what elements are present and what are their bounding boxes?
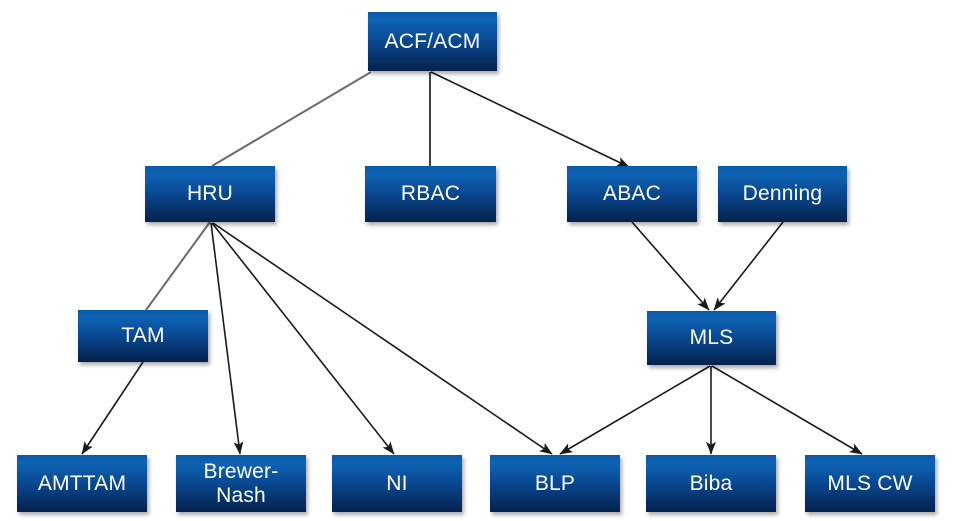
node-label-hru: HRU <box>145 182 275 206</box>
connector-layer <box>0 0 955 521</box>
node-label-ni: NI <box>332 472 462 496</box>
node-label-rbac: RBAC <box>365 182 496 206</box>
node-brewer_nash[interactable]: Brewer- Nash <box>176 455 306 512</box>
node-label-mls: MLS <box>647 326 776 350</box>
node-label-mls_cw: MLS CW <box>805 472 935 496</box>
node-abac[interactable]: ABAC <box>567 166 697 222</box>
edge-mls-to-blp <box>560 366 710 454</box>
node-hru[interactable]: HRU <box>145 166 275 222</box>
node-mls_cw[interactable]: MLS CW <box>805 455 935 512</box>
edge-hru-to-brewer_nash <box>211 223 240 454</box>
node-label-brewer_nash: Brewer- Nash <box>176 460 306 507</box>
node-label-denning: Denning <box>718 182 847 206</box>
edge-hru-to-blp <box>213 223 552 454</box>
edge-tam-to-amttam <box>82 362 143 454</box>
edge-hru-to-tam <box>146 222 210 310</box>
node-label-amttam: AMTTAM <box>17 472 147 496</box>
node-denning[interactable]: Denning <box>718 166 847 222</box>
node-tam[interactable]: TAM <box>78 310 208 362</box>
node-amttam[interactable]: AMTTAM <box>17 455 147 512</box>
node-label-blp: BLP <box>490 472 620 496</box>
access-control-hierarchy-diagram: ACF/ACMHRURBACABACDenningTAMMLSAMTTAMBre… <box>0 0 955 521</box>
node-ni[interactable]: NI <box>332 455 462 512</box>
node-biba[interactable]: Biba <box>646 455 776 512</box>
node-label-acf_acm: ACF/ACM <box>368 30 497 54</box>
node-blp[interactable]: BLP <box>490 455 620 512</box>
edge-hru-to-ni <box>212 223 394 454</box>
edge-acf_acm-to-hru <box>212 72 371 166</box>
node-mls[interactable]: MLS <box>647 311 776 365</box>
edge-denning-to-mls <box>714 222 783 310</box>
edge-abac-to-mls <box>632 222 709 310</box>
node-label-biba: Biba <box>646 472 776 496</box>
edge-mls-to-mls_cw <box>712 366 862 454</box>
node-label-abac: ABAC <box>567 182 697 206</box>
edge-acf_acm-to-abac <box>431 72 629 167</box>
node-label-tam: TAM <box>78 324 208 348</box>
node-rbac[interactable]: RBAC <box>365 166 496 222</box>
node-acf_acm[interactable]: ACF/ACM <box>368 12 497 71</box>
